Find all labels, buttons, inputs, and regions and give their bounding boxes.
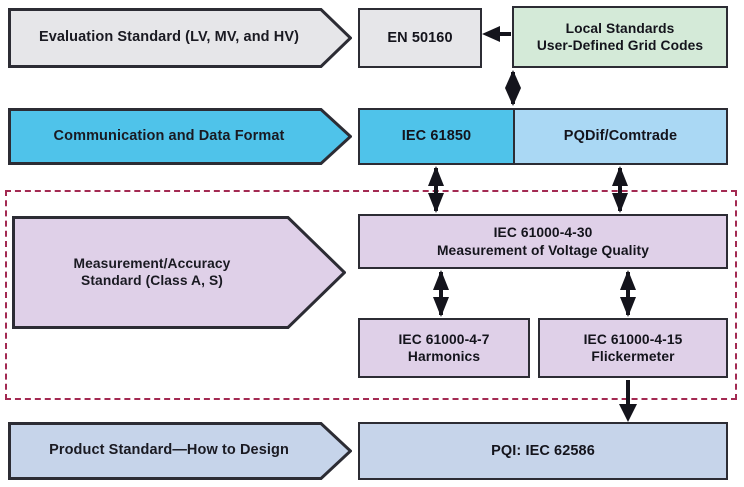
arrow-local-standards-to-communication [505, 70, 521, 106]
arrow-iec61850-to-iec61000-4-30 [428, 166, 444, 213]
product-standard-label: Product Standard—How to Design [8, 442, 352, 460]
measurement-accuracy-label-group: Measurement/Accuracy Standard (Class A, … [12, 256, 346, 290]
en-50160-box: EN 50160 [358, 8, 482, 68]
pqdif-comtrade-box: PQDif/Comtrade [513, 108, 728, 165]
iec-61850-box: IEC 61850 [358, 108, 515, 165]
product-standard-chevron: Product Standard—How to Design [8, 422, 352, 480]
standards-hierarchy-diagram: Evaluation Standard (LV, MV, and HV) EN … [0, 0, 744, 487]
communication-data-format-label: Communication and Data Format [8, 128, 352, 146]
local-standards-box: Local Standards User-Defined Grid Codes [512, 6, 728, 68]
iec-61000-4-7-box: IEC 61000-4-7 Harmonics [358, 318, 530, 378]
iec-61000-4-7-label-line1: IEC 61000-4-7 [398, 331, 489, 348]
communication-data-format-chevron: Communication and Data Format [8, 108, 352, 165]
iec-61000-4-7-label-line2: Harmonics [408, 348, 480, 365]
iec-61000-4-15-label-line2: Flickermeter [591, 348, 674, 365]
iec-61000-4-15-box: IEC 61000-4-15 Flickermeter [538, 318, 728, 378]
local-standards-label-line1: Local Standards [566, 20, 675, 37]
pqdif-comtrade-label: PQDif/Comtrade [564, 127, 677, 145]
measurement-accuracy-label-line2: Standard (Class A, S) [12, 273, 292, 290]
evaluation-standard-label: Evaluation Standard (LV, MV, and HV) [8, 29, 352, 47]
measurement-accuracy-label-line1: Measurement/Accuracy [12, 256, 292, 273]
local-standards-label-line2: User-Defined Grid Codes [537, 37, 703, 54]
evaluation-standard-chevron: Evaluation Standard (LV, MV, and HV) [8, 8, 352, 68]
arrow-iec61000-4-30-to-harmonics [433, 270, 449, 317]
iec-61850-label: IEC 61850 [402, 127, 471, 145]
iec-61000-4-30-box: IEC 61000-4-30 Measurement of Voltage Qu… [358, 214, 728, 269]
pqi-iec-62586-box: PQI: IEC 62586 [358, 422, 728, 480]
arrow-local-standards-to-en50160 [482, 26, 511, 42]
iec-61000-4-30-label-line2: Measurement of Voltage Quality [437, 242, 649, 259]
en-50160-label: EN 50160 [387, 29, 452, 47]
iec-61000-4-15-label-line1: IEC 61000-4-15 [584, 331, 683, 348]
iec-61000-4-30-label-line1: IEC 61000-4-30 [494, 224, 593, 241]
arrow-flickermeter-to-pqi [619, 380, 637, 422]
pqi-iec-62586-label: PQI: IEC 62586 [491, 442, 595, 460]
arrow-iec61000-4-30-to-flickermeter [620, 270, 636, 317]
measurement-accuracy-chevron: Measurement/Accuracy Standard (Class A, … [12, 216, 346, 329]
arrow-pqdif-to-iec61000-4-30 [612, 166, 628, 213]
